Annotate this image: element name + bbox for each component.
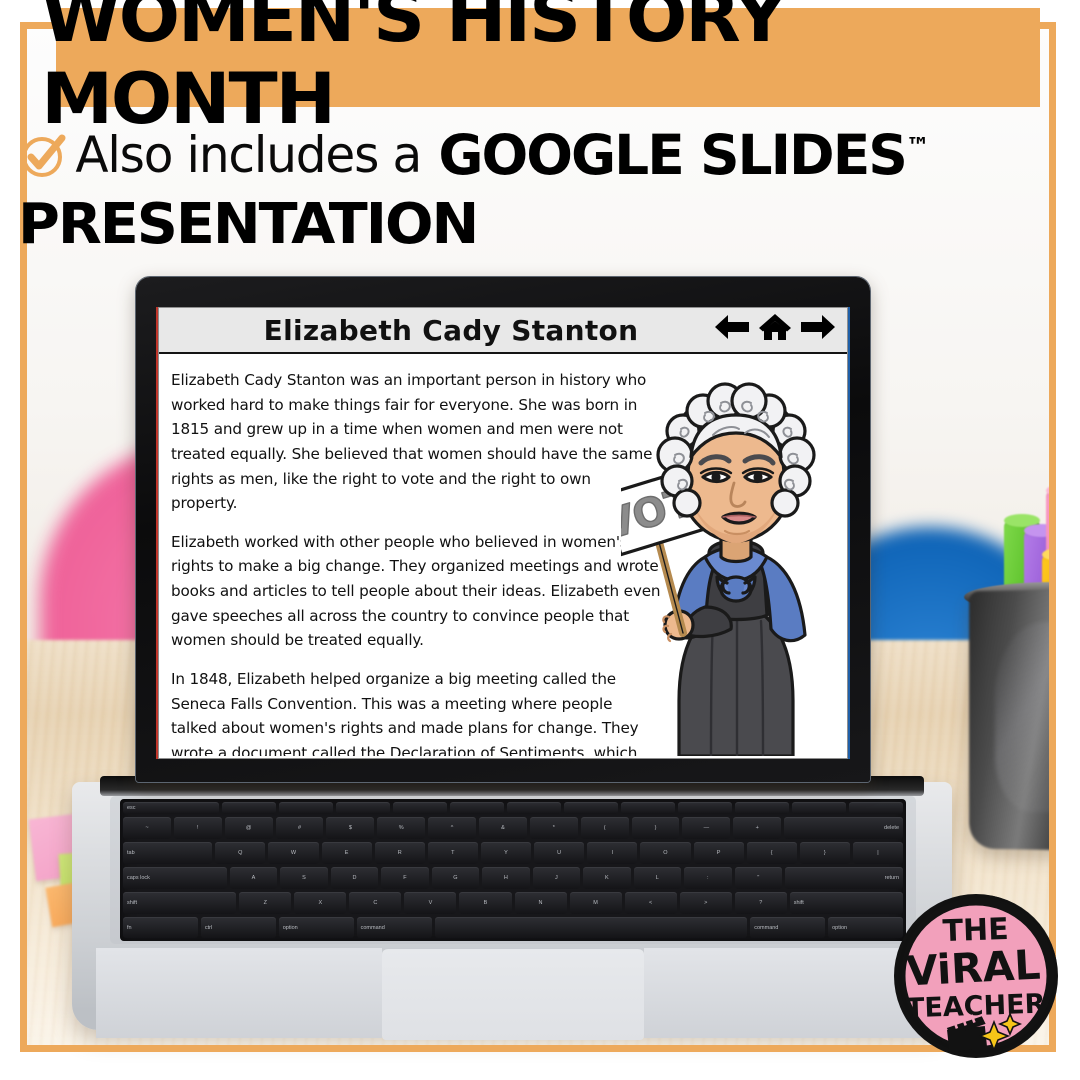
- key-blank[interactable]: [849, 802, 903, 814]
- trademark-symbol: ™: [906, 133, 930, 161]
- laptop-trackpad[interactable]: [382, 948, 644, 1040]
- check-circle-icon: [18, 130, 68, 180]
- key-sym[interactable]: ": [735, 867, 782, 889]
- key-blank[interactable]: [279, 802, 333, 814]
- google-slide: Elizabeth Cady Stanton: [159, 308, 847, 758]
- key-sym[interactable]: #: [276, 817, 324, 839]
- key-fn[interactable]: fn: [123, 917, 198, 938]
- key-blank[interactable]: [735, 802, 789, 814]
- key-j[interactable]: J: [533, 867, 580, 889]
- key-blank[interactable]: [450, 802, 504, 814]
- key-blank[interactable]: [222, 802, 276, 814]
- laptop-keyboard[interactable]: esc ~!@#$%^&*()—+delete tabQWERTYUIOP{}|…: [120, 799, 906, 941]
- palm-rest-right: [644, 948, 930, 1038]
- key-blank[interactable]: [621, 802, 675, 814]
- key-sym[interactable]: ^: [428, 817, 476, 839]
- slide-body: Elizabeth Cady Stanton was an important …: [159, 354, 847, 756]
- key-q[interactable]: Q: [215, 842, 265, 864]
- back-arrow-icon[interactable]: [713, 312, 751, 342]
- key-m[interactable]: M: [570, 892, 622, 914]
- subheading-bold-text: GOOGLE SLIDES™: [438, 123, 930, 187]
- key-blank[interactable]: [678, 802, 732, 814]
- key-sym[interactable]: ): [632, 817, 680, 839]
- pen-cup-reflection: [995, 622, 1056, 812]
- key-g[interactable]: G: [432, 867, 479, 889]
- key-sym[interactable]: @: [225, 817, 273, 839]
- elizabeth-cady-stanton-illustration: VOTE: [621, 371, 847, 756]
- key-p[interactable]: P: [694, 842, 744, 864]
- key-delete[interactable]: delete: [784, 817, 903, 839]
- key-w[interactable]: W: [268, 842, 318, 864]
- key-sym[interactable]: <: [625, 892, 677, 914]
- key-blank[interactable]: [393, 802, 447, 814]
- subheading-light-text: Also includes a: [75, 126, 421, 184]
- key-sym[interactable]: +: [733, 817, 781, 839]
- slide-paragraph-3: In 1848, Elizabeth helped organize a big…: [171, 667, 661, 756]
- key-shift[interactable]: shift: [123, 892, 236, 914]
- key-d[interactable]: D: [331, 867, 378, 889]
- key-e[interactable]: E: [322, 842, 372, 864]
- banner-title: WOMEN'S HISTORY MONTH: [41, 8, 1055, 107]
- google-slides-label: GOOGLE SLIDES: [438, 123, 906, 187]
- key-option[interactable]: option: [279, 917, 354, 938]
- home-icon[interactable]: [758, 312, 792, 342]
- key-u[interactable]: U: [534, 842, 584, 864]
- key-f[interactable]: F: [381, 867, 428, 889]
- key-sym[interactable]: !: [174, 817, 222, 839]
- key-sym[interactable]: —: [682, 817, 730, 839]
- subheading-line-2: PRESENTATION: [18, 192, 477, 257]
- key-tab[interactable]: tab: [123, 842, 212, 864]
- key-ctrl[interactable]: ctrl: [201, 917, 276, 938]
- slide-paragraph-1: Elizabeth Cady Stanton was an important …: [171, 368, 661, 516]
- key-sym[interactable]: ?: [735, 892, 787, 914]
- key-y[interactable]: Y: [481, 842, 531, 864]
- brand-logo: THE ViRAL TEACHER: [890, 890, 1062, 1062]
- key-sym[interactable]: ~: [123, 817, 171, 839]
- slide-navigation: [713, 312, 837, 342]
- key-sym[interactable]: :: [684, 867, 731, 889]
- key-sym[interactable]: {: [747, 842, 797, 864]
- key-sym[interactable]: >: [680, 892, 732, 914]
- slide-title-bar: Elizabeth Cady Stanton: [159, 308, 847, 354]
- key-capslock[interactable]: caps lock: [123, 867, 227, 889]
- key-i[interactable]: I: [587, 842, 637, 864]
- forward-arrow-icon[interactable]: [799, 312, 837, 342]
- key-v[interactable]: V: [404, 892, 456, 914]
- poster-canvas: esc ~!@#$%^&*()—+delete tabQWERTYUIOP{}|…: [0, 0, 1080, 1080]
- key-o[interactable]: O: [640, 842, 690, 864]
- key-h[interactable]: H: [482, 867, 529, 889]
- logo-line-2: ViRAL: [905, 941, 1042, 996]
- palm-rest-left: [96, 948, 382, 1038]
- key-shift[interactable]: shift: [790, 892, 903, 914]
- key-t[interactable]: T: [428, 842, 478, 864]
- key-return[interactable]: return: [785, 867, 903, 889]
- key-sym[interactable]: %: [377, 817, 425, 839]
- key-esc[interactable]: esc: [123, 802, 219, 814]
- key-sym[interactable]: (: [581, 817, 629, 839]
- slide-paragraph-2: Elizabeth worked with other people who b…: [171, 530, 661, 653]
- key-r[interactable]: R: [375, 842, 425, 864]
- key-blank[interactable]: [435, 917, 748, 938]
- key-command[interactable]: command: [357, 917, 432, 938]
- key-sym[interactable]: *: [530, 817, 578, 839]
- key-sym[interactable]: &: [479, 817, 527, 839]
- key-x[interactable]: X: [294, 892, 346, 914]
- key-a[interactable]: A: [230, 867, 277, 889]
- laptop-screen: Elizabeth Cady Stanton: [158, 307, 848, 759]
- key-command[interactable]: command: [750, 917, 825, 938]
- key-blank[interactable]: [564, 802, 618, 814]
- key-n[interactable]: N: [515, 892, 567, 914]
- key-sym[interactable]: }: [800, 842, 850, 864]
- key-b[interactable]: B: [459, 892, 511, 914]
- key-s[interactable]: S: [280, 867, 327, 889]
- key-k[interactable]: K: [583, 867, 630, 889]
- key-sym[interactable]: |: [853, 842, 903, 864]
- key-sym[interactable]: $: [326, 817, 374, 839]
- subheading-line-1: Also includes a GOOGLE SLIDES™: [18, 122, 930, 188]
- key-z[interactable]: Z: [239, 892, 291, 914]
- key-c[interactable]: C: [349, 892, 401, 914]
- key-blank[interactable]: [507, 802, 561, 814]
- key-blank[interactable]: [336, 802, 390, 814]
- key-l[interactable]: L: [634, 867, 681, 889]
- key-blank[interactable]: [792, 802, 846, 814]
